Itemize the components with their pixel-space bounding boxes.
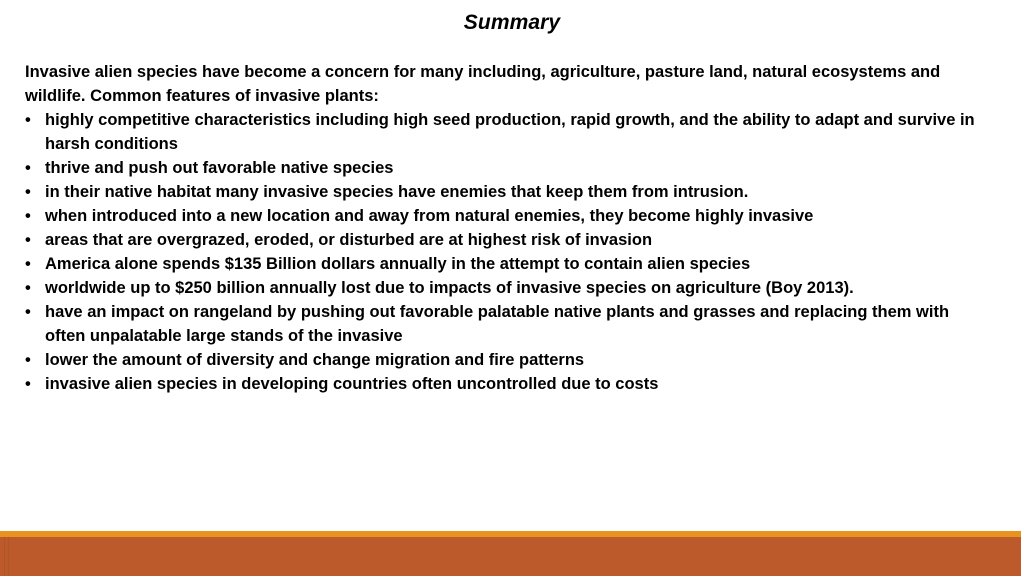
page-title: Summary: [0, 9, 1024, 37]
presentation-slide: Summary Invasive alien species have beco…: [0, 0, 1024, 576]
bullet-point-icon: •: [25, 276, 39, 300]
list-item: • areas that are overgrazed, eroded, or …: [25, 228, 977, 252]
bullet-point-icon: •: [25, 204, 39, 228]
list-item-label: highly competitive characteristics inclu…: [45, 108, 977, 156]
summary-bullet-list: • highly competitive characteristics inc…: [25, 108, 977, 396]
list-item: • have an impact on rangeland by pushing…: [25, 300, 977, 348]
list-item-label: invasive alien species in developing cou…: [45, 372, 977, 396]
list-item: • thrive and push out favorable native s…: [25, 156, 977, 180]
list-item: • when introduced into a new location an…: [25, 204, 977, 228]
bullet-point-icon: •: [25, 300, 39, 324]
bullet-point-icon: •: [25, 348, 39, 372]
list-item-label: areas that are overgrazed, eroded, or di…: [45, 228, 977, 252]
intro-paragraph: Invasive alien species have become a con…: [25, 60, 977, 108]
list-item-label: when introduced into a new location and …: [45, 204, 977, 228]
list-item: • in their native habitat many invasive …: [25, 180, 977, 204]
list-item-label: thrive and push out favorable native spe…: [45, 156, 977, 180]
footer-edge-line-inner: [8, 537, 9, 576]
bullet-point-icon: •: [25, 156, 39, 180]
list-item: • America alone spends $135 Billion doll…: [25, 252, 977, 276]
bullet-point-icon: •: [25, 180, 39, 204]
bullet-point-icon: •: [25, 372, 39, 396]
list-item-label: worldwide up to $250 billion annually lo…: [45, 276, 977, 300]
list-item-label: lower the amount of diversity and change…: [45, 348, 977, 372]
footer-band: [0, 537, 1021, 576]
list-item: • invasive alien species in developing c…: [25, 372, 977, 396]
list-item-label: have an impact on rangeland by pushing o…: [45, 300, 977, 348]
list-item: • lower the amount of diversity and chan…: [25, 348, 977, 372]
bullet-point-icon: •: [25, 252, 39, 276]
list-item-label: America alone spends $135 Billion dollar…: [45, 252, 977, 276]
footer-edge-line-left: [4, 537, 5, 576]
bullet-point-icon: •: [25, 228, 39, 252]
list-item: • worldwide up to $250 billion annually …: [25, 276, 977, 300]
list-item-label: in their native habitat many invasive sp…: [45, 180, 977, 204]
slide-body: Invasive alien species have become a con…: [25, 60, 977, 396]
bullet-point-icon: •: [25, 108, 39, 132]
list-item: • highly competitive characteristics inc…: [25, 108, 977, 156]
